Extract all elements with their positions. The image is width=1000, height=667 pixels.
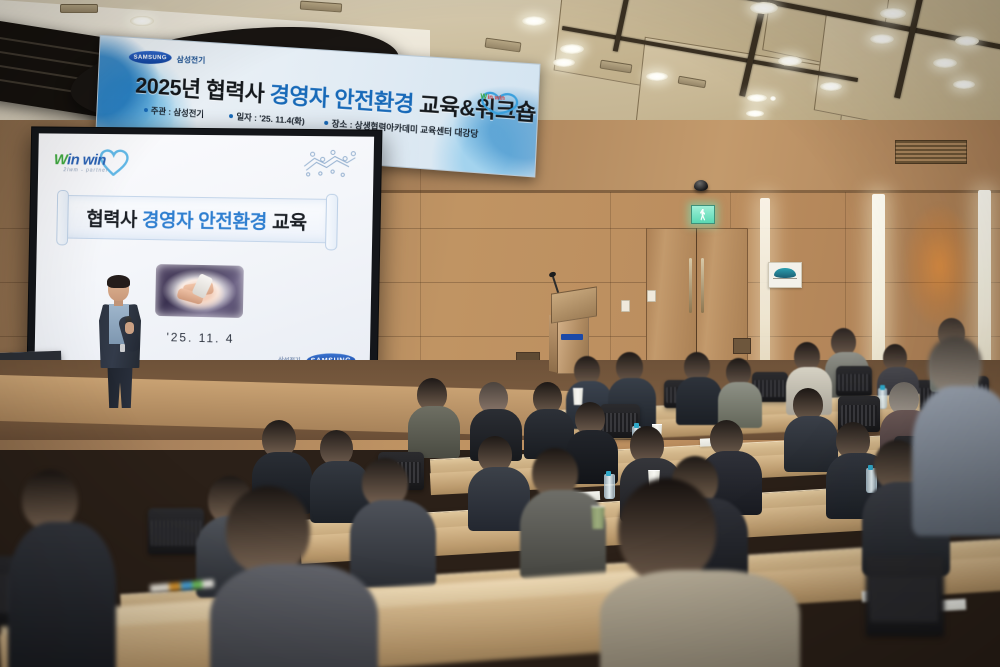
attendee-body	[350, 500, 436, 588]
projection-screen-frame: Win win 2lwm - partner	[26, 126, 382, 387]
attendee-head	[618, 478, 716, 582]
attendee-body	[210, 564, 378, 667]
wall-outlet[interactable]	[647, 290, 656, 302]
svg-text:in win: in win	[487, 95, 505, 102]
sign-emblem-icon	[774, 268, 796, 278]
ceiling-downlight	[522, 16, 546, 26]
ceiling-downlight	[955, 36, 979, 46]
banner-meta-item: 일자 : '25. 11.4(화)	[229, 110, 305, 127]
bullet-icon	[144, 108, 148, 112]
slide-handshake-photo	[155, 264, 244, 318]
wall-air-vent	[895, 140, 967, 164]
slide-winwin-logo: Win win 2lwm - partner	[54, 145, 131, 180]
exit-sign	[691, 205, 715, 224]
slide-winwin-wordmark: Win win	[54, 151, 106, 168]
exit-running-figure-icon	[700, 209, 706, 221]
attendee-body	[8, 522, 116, 667]
wall-service-box	[733, 338, 751, 354]
presenter-legs	[105, 364, 135, 408]
dome-camera-icon	[694, 180, 708, 191]
banner-brand-korean: 삼성전기	[177, 54, 206, 66]
paper-cup	[572, 388, 584, 405]
attendee-body	[520, 490, 606, 580]
winwin-w: W	[54, 151, 68, 168]
banner-title-highlight: 경영자 안전환경	[269, 82, 420, 117]
ceiling-vent	[484, 38, 521, 53]
ceiling-downlight	[130, 16, 154, 26]
wall-notice-sign	[768, 262, 802, 288]
attendee-head	[226, 486, 310, 574]
ceiling-downlight	[880, 8, 906, 19]
slide-title-part1: 협력사	[86, 209, 142, 231]
slide-title-part2: 교육	[267, 212, 307, 234]
bullet-icon	[325, 121, 329, 125]
presenter	[92, 276, 148, 406]
attendee-body	[676, 377, 722, 425]
water-bottle	[604, 474, 615, 499]
slide-title: 협력사 경영자 안전환경 교육	[86, 204, 307, 235]
slide-title-highlight: 경영자 안전환경	[142, 210, 267, 233]
winwin-heart-icon: W in win	[476, 85, 526, 117]
title-scroll-left	[56, 190, 69, 246]
attendee-body	[600, 570, 800, 667]
ceiling-downlight	[778, 56, 802, 66]
podium-top	[551, 286, 597, 323]
presenter-badge	[120, 344, 125, 352]
ceiling-downlight	[560, 44, 584, 54]
ceiling-downlight	[747, 94, 767, 102]
ceiling-vent	[300, 1, 343, 13]
slide-date: '25. 11. 4	[35, 327, 370, 350]
ceiling-downlight	[646, 72, 668, 81]
seminar-hall-photo: SAMSUNG 삼성전기 2025년 협력사 경영자 안전환경 교육&워크숍 주…	[0, 0, 1000, 667]
samsung-logo: SAMSUNG	[129, 51, 172, 64]
slide-winwin-tagline: 2lwm - partner	[63, 167, 108, 174]
chair	[866, 556, 944, 636]
bullet-icon	[229, 114, 233, 118]
ceiling-downlight	[933, 58, 957, 68]
ceiling-downlight	[953, 80, 975, 89]
presenter-hand	[125, 322, 134, 334]
banner-meta-label: 일자 : '25. 11.4(화)	[236, 111, 305, 128]
presenter-hair	[107, 275, 130, 288]
attendee-body	[912, 386, 1000, 536]
attendee-body	[408, 406, 460, 458]
ceiling-downlight	[870, 34, 894, 44]
chair	[836, 366, 872, 396]
slide-title-box: 협력사 경영자 안전환경 교육	[61, 195, 333, 243]
attendee-head	[22, 470, 78, 530]
samsung-logo-text: SAMSUNG	[134, 54, 167, 60]
ceiling-downlight	[553, 58, 575, 67]
projection-screen: Win win 2lwm - partner	[34, 133, 374, 378]
ceiling-downlight	[746, 110, 764, 117]
wall-outlet[interactable]	[621, 300, 630, 312]
ceiling-vent	[60, 4, 98, 13]
door-handle-left[interactable]	[689, 258, 692, 313]
podium-brand-label	[561, 334, 583, 340]
wall-accent-glow	[905, 206, 975, 326]
ceiling-downlight	[820, 82, 842, 91]
title-scroll-right	[325, 194, 338, 251]
ceiling-downlight	[750, 2, 778, 14]
ceiling-downlight	[770, 96, 776, 101]
door-handle-right[interactable]	[701, 258, 704, 313]
winwin-inwin: in win	[67, 151, 106, 168]
paper-cup	[590, 506, 606, 529]
banner-winwin-logo: W in win	[476, 85, 526, 117]
slide-handshake-watermark	[298, 144, 362, 181]
